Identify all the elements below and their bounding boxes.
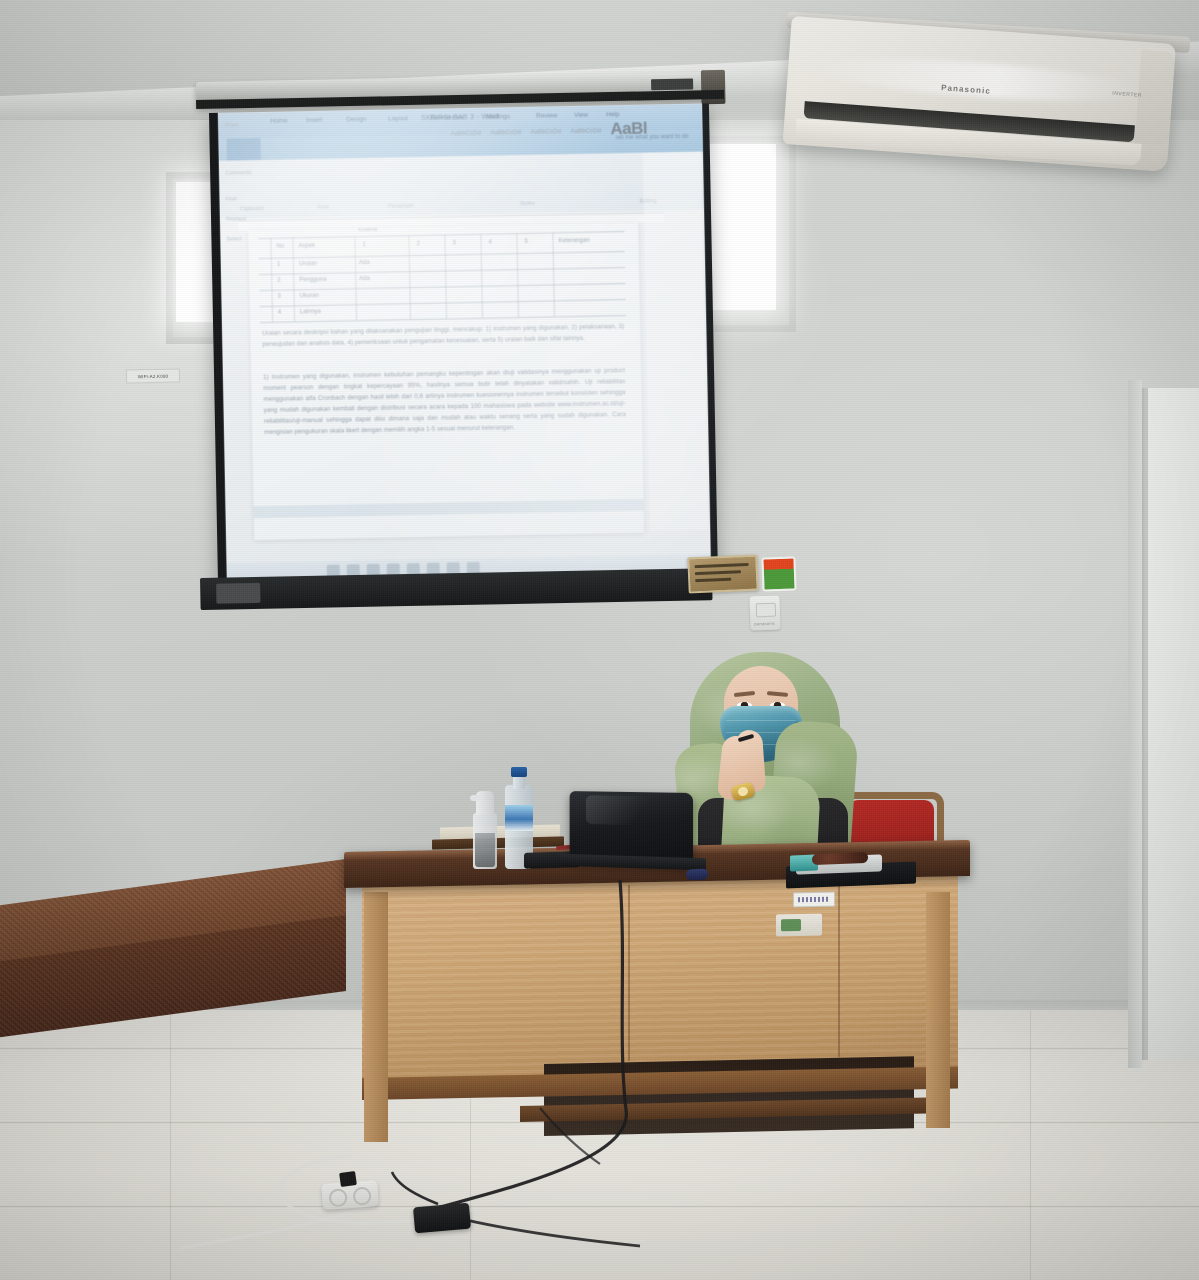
table-row-3-no: 3	[277, 294, 280, 300]
table-row-4-no: 4	[278, 310, 281, 316]
word-style-4[interactable]: AaBbCcDd	[570, 127, 601, 135]
projected-word-window: SKRIPSI BAB 3 - Word Home Insert Design …	[218, 104, 711, 585]
table-header-4: 4	[488, 240, 491, 246]
document-paragraph-1: Uraian secara deskripsi bahan yang dilak…	[262, 321, 624, 350]
table-row-4-aspek: Lainnya	[300, 309, 321, 315]
housing-label	[651, 78, 693, 90]
screen-pull-tab	[216, 583, 260, 604]
plaque-line-3	[695, 578, 731, 583]
wall-plaque	[687, 555, 758, 594]
eyebrow-left	[734, 691, 755, 697]
word-group-font: Font	[318, 205, 329, 211]
word-status-bar	[254, 499, 644, 518]
light-switch-label: panasonic	[754, 621, 775, 627]
desk-leg-right	[926, 892, 950, 1128]
word-file-tab[interactable]	[226, 138, 260, 161]
wall-warning-sticker	[761, 556, 796, 591]
plaque-line-2	[695, 570, 741, 575]
word-document-page[interactable]: No Aspek Kriteria 1 2 3 4 5 Keterangan 1…	[248, 223, 644, 540]
table-row-1-aspek: Urutan	[299, 261, 317, 267]
snacks	[812, 852, 868, 865]
desk-panel-seam-1	[628, 885, 630, 1061]
carpeted-step	[0, 906, 346, 1046]
wifi-label: WIFI-A2.K080	[126, 369, 180, 384]
laptop[interactable]	[560, 792, 700, 874]
door-jamb	[1128, 380, 1142, 1068]
desk-inventory-sticker	[776, 914, 822, 937]
table-header-1: 1	[363, 242, 366, 248]
light-switch[interactable]: panasonic	[749, 595, 780, 630]
word-style-3[interactable]: AaBbCcDd	[530, 128, 561, 136]
word-group-paragraph: Paragraph	[388, 203, 414, 209]
table-row-2-no: 2	[277, 278, 280, 284]
sanitizer-liquid	[475, 833, 495, 867]
table-row-1-no: 1	[277, 262, 280, 268]
word-style-heading[interactable]: AaBl	[610, 119, 647, 140]
eyebrow-right	[767, 691, 788, 697]
table-row-3-aspek: Ukuran	[299, 293, 318, 299]
projection-screen: SKRIPSI BAB 3 - Word Home Insert Design …	[209, 103, 718, 585]
word-style-2[interactable]: AaBbCcDd	[490, 129, 521, 137]
word-group-clipboard: Clipboard	[240, 206, 264, 212]
table-row-2-aspek: Pengguna	[299, 277, 326, 284]
plaque-line-1	[695, 563, 749, 568]
table-header-keterangan: Keterangan	[558, 238, 589, 245]
power-socket-1[interactable]	[329, 1188, 348, 1207]
sanitizer-nozzle	[470, 795, 484, 801]
bottle-cap	[511, 767, 527, 777]
table-header-aspek: Aspek	[299, 243, 316, 249]
hand-sanitizer-bottle	[470, 789, 500, 869]
bottle-label	[505, 805, 533, 831]
table-row-1-krit: Ada	[359, 260, 370, 266]
word-style-1[interactable]: AaBbCcDd	[450, 130, 481, 138]
table-header-5: 5	[524, 239, 527, 245]
power-socket-2[interactable]	[353, 1187, 372, 1206]
word-group-styles: Styles	[520, 201, 535, 207]
laptop-power-adapter	[413, 1203, 471, 1234]
mouse[interactable]	[686, 869, 708, 881]
desk	[344, 852, 970, 1152]
document-paragraph-2: 1) Instrumen yang digunakan, instrumen k…	[263, 365, 626, 438]
ac-gloss	[818, 51, 1143, 108]
table-header-no: No	[277, 244, 285, 250]
document-table: No Aspek Kriteria 1 2 3 4 5 Keterangan 1…	[258, 231, 626, 322]
table-header-3: 3	[452, 240, 455, 246]
window-right	[708, 144, 776, 310]
light-switch-rocker[interactable]	[756, 603, 776, 618]
photo-scene: WIFI-A2.K080 SKRIPSI BAB 3 - Word Home I…	[0, 0, 1199, 1280]
bottle-neck	[513, 775, 525, 789]
power-plug	[339, 1171, 357, 1187]
wifi-label-text: WIFI-A2.K080	[138, 373, 169, 379]
table-header-kriteria: Kriteria	[358, 227, 377, 233]
table-row-2-krit: Ada	[359, 276, 370, 282]
desk-panel-seam-2	[838, 881, 840, 1057]
desk-leg-left	[364, 892, 388, 1142]
desk-asset-tag	[793, 892, 835, 908]
door[interactable]	[1146, 388, 1199, 1060]
table-header-2: 2	[416, 241, 419, 247]
